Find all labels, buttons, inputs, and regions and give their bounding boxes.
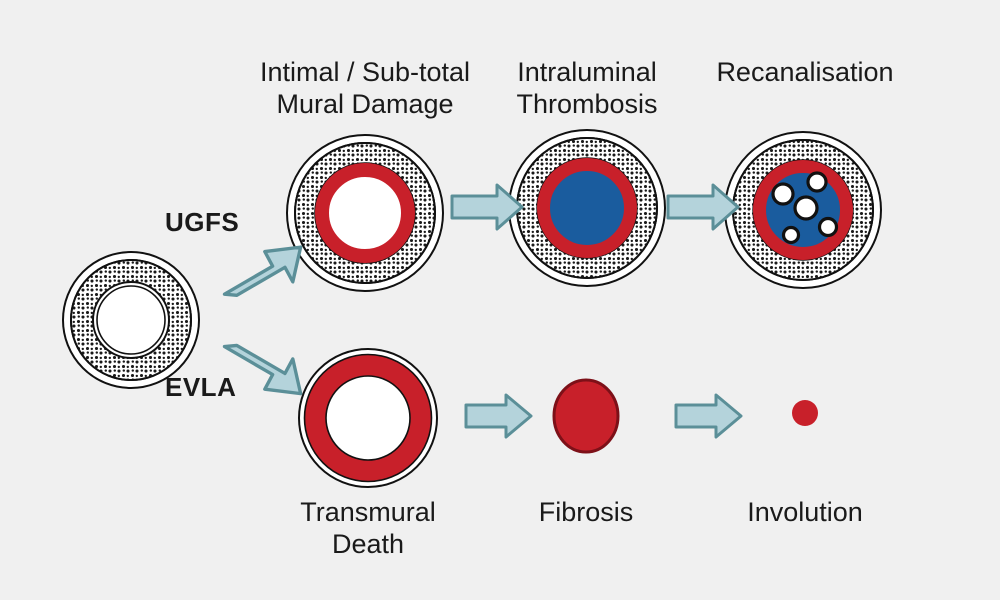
- vessel-evla-involution: [792, 400, 818, 426]
- label-branch-evla: EVLA: [165, 371, 275, 403]
- arrow-evla-2-to-3: [676, 395, 741, 437]
- label-involution: Involution: [700, 496, 910, 528]
- label-intimal-damage: Intimal / Sub-total Mural Damage: [240, 56, 490, 120]
- vessel-ugfs-recanalisation: [725, 132, 881, 288]
- label-intraluminal-thrombosis: Intraluminal Thrombosis: [482, 56, 692, 120]
- diagram-canvas: Intimal / Sub-total Mural Damage Intralu…: [0, 0, 1000, 600]
- arrow-evla-1-to-2: [466, 395, 531, 437]
- vessel-ugfs-thrombosis: [509, 130, 665, 286]
- label-fibrosis: Fibrosis: [481, 496, 691, 528]
- label-transmural-death: Transmural Death: [263, 496, 473, 560]
- vessel-evla-transmural-death: [299, 349, 437, 487]
- vessel-ugfs-intimal-damage: [287, 135, 443, 291]
- label-branch-ugfs: UGFS: [165, 206, 275, 238]
- vessel-evla-fibrosis: [554, 380, 618, 452]
- label-recanalisation: Recanalisation: [700, 56, 910, 88]
